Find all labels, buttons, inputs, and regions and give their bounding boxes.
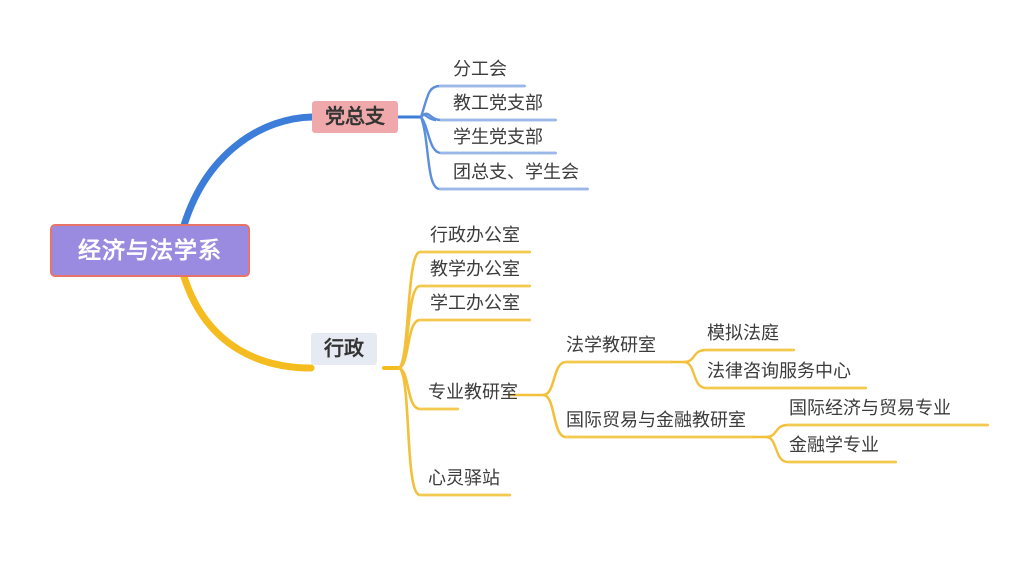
node-admin-child-2-label: 学工办公室 — [430, 294, 520, 312]
node-admin-child-3[interactable]: 专业教研室 — [428, 379, 518, 405]
branch-node-admin[interactable]: 行政 — [311, 333, 377, 365]
connector-admin-child-2 — [398, 320, 530, 368]
branch-node-admin-label: 行政 — [324, 339, 364, 359]
trunk-root-to-admin — [182, 270, 311, 368]
node-party-child-1-label: 教工党支部 — [453, 94, 543, 112]
node-intl-trade-major-label: 国际经济与贸易专业 — [789, 399, 951, 417]
node-legal-consulting-center[interactable]: 法律咨询服务中心 — [707, 358, 851, 384]
branch-node-party-label: 党总支 — [325, 107, 385, 127]
node-trade-finance-teaching-office-label: 国际贸易与金融教研室 — [566, 411, 746, 429]
node-party-child-2-label: 学生党支部 — [453, 128, 543, 146]
node-finance-major-label: 金融学专业 — [789, 436, 879, 454]
root-node-label: 经济与法学系 — [78, 239, 222, 262]
node-admin-child-3-label: 专业教研室 — [428, 383, 518, 401]
node-intl-trade-major[interactable]: 国际经济与贸易专业 — [789, 395, 951, 421]
node-finance-major[interactable]: 金融学专业 — [789, 432, 879, 458]
node-admin-child-1-label: 教学办公室 — [430, 260, 520, 278]
mindmap-connector-layer — [0, 0, 1024, 565]
node-party-child-2[interactable]: 学生党支部 — [453, 124, 543, 150]
node-admin-child-0-label: 行政办公室 — [430, 226, 520, 244]
node-party-child-3[interactable]: 团总支、学生会 — [453, 159, 579, 185]
node-moot-court-label: 模拟法庭 — [707, 324, 779, 342]
node-trade-finance-teaching-office[interactable]: 国际贸易与金融教研室 — [566, 407, 746, 433]
connector-law-office — [543, 362, 672, 395]
connector-party-child-1 — [421, 115, 436, 120]
mindmap-canvas: 经济与法学系 党总支 行政 分工会 教工党支部 学生党支部 团总支、学生会 行政… — [0, 0, 1024, 565]
node-admin-child-0[interactable]: 行政办公室 — [430, 222, 520, 248]
node-admin-child-4[interactable]: 心灵驿站 — [428, 465, 500, 491]
root-node[interactable]: 经济与法学系 — [50, 224, 250, 277]
node-admin-child-4-label: 心灵驿站 — [428, 469, 500, 487]
node-party-child-3-label: 团总支、学生会 — [453, 163, 579, 181]
node-party-child-0-label: 分工会 — [453, 60, 507, 78]
node-moot-court[interactable]: 模拟法庭 — [707, 320, 779, 346]
node-legal-consulting-center-label: 法律咨询服务中心 — [707, 362, 851, 380]
node-law-teaching-office-label: 法学教研室 — [566, 336, 656, 354]
branch-node-party[interactable]: 党总支 — [312, 101, 398, 133]
node-law-teaching-office[interactable]: 法学教研室 — [566, 332, 656, 358]
trunk-root-to-party — [182, 117, 312, 232]
node-admin-child-1[interactable]: 教学办公室 — [430, 256, 520, 282]
node-party-child-1[interactable]: 教工党支部 — [453, 90, 543, 116]
node-party-child-0[interactable]: 分工会 — [453, 56, 507, 82]
node-admin-child-2[interactable]: 学工办公室 — [430, 290, 520, 316]
